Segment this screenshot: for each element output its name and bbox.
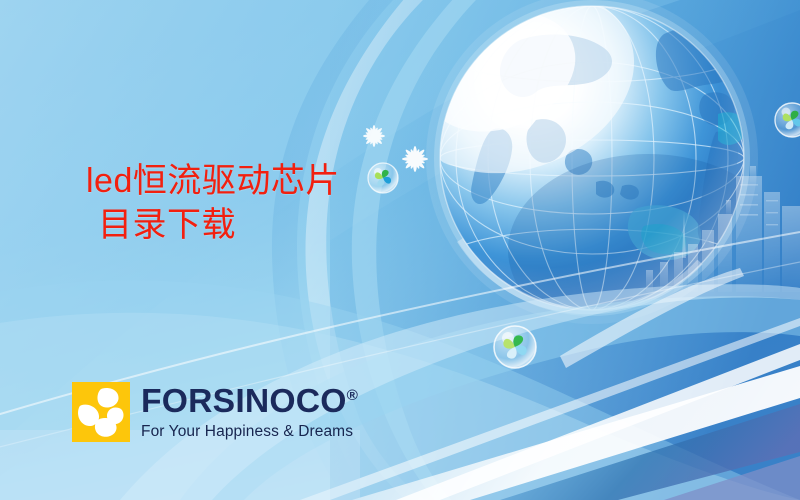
starburst-upper <box>363 125 385 147</box>
promotional-banner: led恒流驱动芯片 目录下载 FORSINOCO® <box>0 0 800 500</box>
registered-trademark-symbol: ® <box>347 387 358 404</box>
headline-line-1: led恒流驱动芯片 <box>86 162 340 200</box>
bubble-pinwheel-large <box>494 326 536 368</box>
pinwheel-flower-mark <box>72 382 130 442</box>
brand-name-text: FORSINOCO <box>141 382 347 419</box>
headline-text: led恒流驱动芯片 目录下载 <box>86 160 340 247</box>
company-logo: FORSINOCO® For Your Happiness & Dreams <box>72 382 354 442</box>
headline-line-2: 目录下载 <box>86 204 340 248</box>
brand-tagline: For Your Happiness & Dreams <box>141 424 354 440</box>
logo-wordmark: FORSINOCO® For Your Happiness & Dreams <box>141 384 354 440</box>
starburst-lower <box>402 146 428 172</box>
bubble-pinwheel-small <box>368 163 398 193</box>
brand-name: FORSINOCO® <box>141 384 358 417</box>
pinwheel-flower-icon <box>72 382 130 442</box>
